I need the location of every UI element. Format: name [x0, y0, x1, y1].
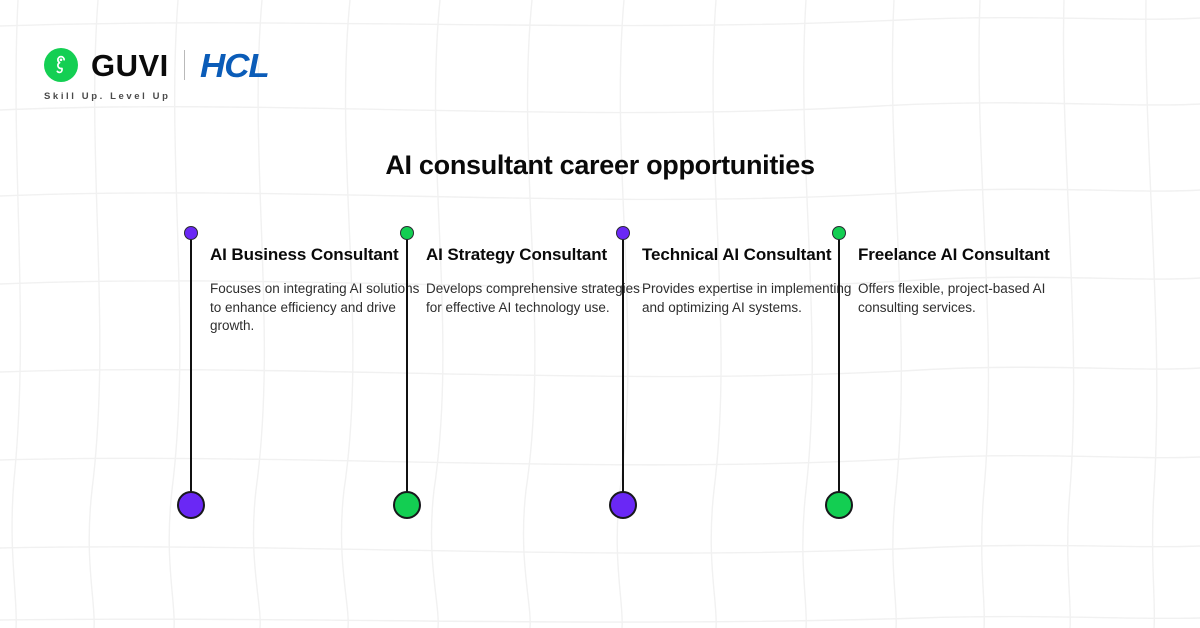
- brand-divider: [184, 50, 185, 80]
- brand-tagline: Skill Up. Level Up: [44, 91, 265, 102]
- timeline-stem-3: [622, 232, 624, 504]
- timeline-top-dot-2: [400, 226, 414, 240]
- column-heading-1: AI Business Consultant: [210, 243, 425, 266]
- infographic-canvas: GUVI HCL Skill Up. Level Up AI consultan…: [0, 0, 1200, 628]
- column-description-1: Focuses on integrating AI solutions to e…: [210, 280, 425, 335]
- timeline-bottom-marker-1: [177, 491, 205, 519]
- timeline-content-1: AI Business Consultant Focuses on integr…: [210, 243, 425, 336]
- timeline-stem-4: [838, 232, 840, 504]
- column-heading-2: AI Strategy Consultant: [426, 243, 641, 266]
- timeline-content-3: Technical AI Consultant Provides experti…: [642, 243, 857, 317]
- hcl-wordmark: HCL: [200, 49, 269, 82]
- timeline-top-dot-1: [184, 226, 198, 240]
- column-description-3: Provides expertise in implementing and o…: [642, 280, 857, 317]
- timeline-bottom-marker-4: [825, 491, 853, 519]
- timeline-stem-1: [190, 232, 192, 504]
- timeline-content-2: AI Strategy Consultant Develops comprehe…: [426, 243, 641, 317]
- brand-lockup: GUVI HCL Skill Up. Level Up: [44, 48, 265, 102]
- guvi-wordmark: GUVI: [91, 50, 169, 81]
- timeline-stem-2: [406, 232, 408, 504]
- column-description-2: Develops comprehensive strategies for ef…: [426, 280, 641, 317]
- column-heading-3: Technical AI Consultant: [642, 243, 857, 266]
- brand-logos-row: GUVI HCL: [44, 48, 265, 82]
- page-title: AI consultant career opportunities: [0, 150, 1200, 181]
- guvi-g-monogram-icon: [44, 48, 78, 82]
- timeline-bottom-marker-3: [609, 491, 637, 519]
- timeline-bottom-marker-2: [393, 491, 421, 519]
- column-heading-4: Freelance AI Consultant: [858, 243, 1073, 266]
- timeline-content-4: Freelance AI Consultant Offers flexible,…: [858, 243, 1073, 317]
- column-description-4: Offers flexible, project-based AI consul…: [858, 280, 1073, 317]
- timeline-top-dot-3: [616, 226, 630, 240]
- timeline-top-dot-4: [832, 226, 846, 240]
